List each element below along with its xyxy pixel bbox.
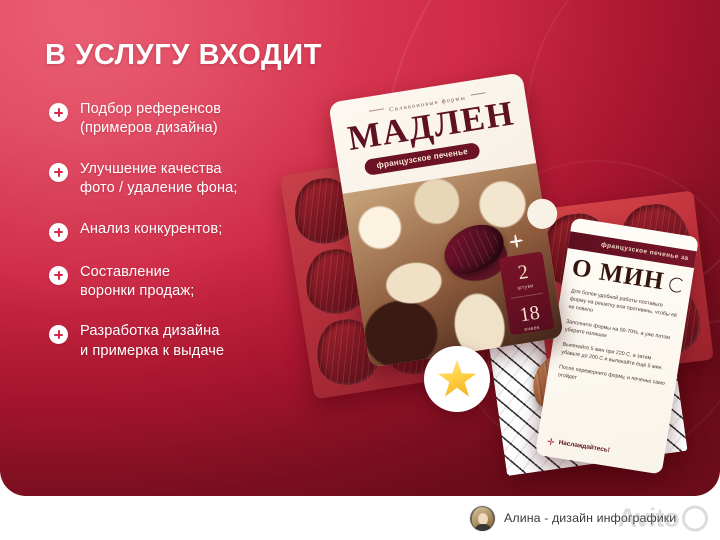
list-item-line: Подбор референсов (80, 101, 221, 117)
star-icon (437, 359, 477, 399)
tag-divider (511, 293, 543, 299)
star-badge (424, 346, 490, 412)
list-item-line: Разработка дизайна (80, 323, 219, 339)
infographic-slide: В УСЛУГУ ВХОДИТ Подбор референсов (приме… (0, 0, 720, 540)
list-item-line: Улучшение качества (80, 161, 222, 177)
author-block[interactable]: Алина - дизайн инфографики (470, 506, 676, 531)
list-item-line: (примеров дизайна) (80, 120, 218, 136)
list-item-label: Подбор референсов (примеров дизайна) (80, 100, 221, 139)
footer-bar: Алина - дизайн инфографики Avito (0, 496, 720, 540)
page-title: В УСЛУГУ ВХОДИТ (45, 40, 322, 70)
plus-circle-icon (49, 266, 68, 285)
sparkle-icon (504, 229, 529, 254)
rule-right (471, 92, 486, 95)
plus-circle-icon (49, 223, 68, 242)
product-photo-collage: французское печенье за О МИН Для более у… (300, 58, 720, 478)
list-item-label: Анализ конкурентов; (80, 220, 222, 239)
avatar (470, 506, 495, 531)
author-name: Алина - дизайн инфографики (504, 511, 676, 525)
plus-circle-icon (49, 163, 68, 182)
list-item-label: Улучшение качества фото / удаление фона; (80, 160, 238, 199)
refresh-circle-icon (668, 276, 685, 293)
plus-circle-icon (49, 103, 68, 122)
list-item-label: Разработка дизайна и примерка к выдаче (80, 322, 224, 361)
recipe-card-body: Для более удобной работы поставьте форму… (556, 288, 679, 403)
recipe-card-footer: ✛ Наслаждайтесь! (547, 437, 610, 454)
list-item-line: и примерка к выдаче (80, 343, 224, 359)
list-item-line: Анализ конкурентов; (80, 221, 222, 237)
plus-icon: ✛ (547, 441, 554, 442)
avatar-face (478, 513, 488, 525)
plus-circle-icon (49, 325, 68, 344)
list-item-label: Составление воронки продаж; (80, 263, 194, 302)
list-item-line: Составление (80, 264, 170, 280)
watermark-ring-icon (682, 505, 708, 531)
red-background-panel: В УСЛУГУ ВХОДИТ Подбор референсов (приме… (0, 0, 720, 496)
list-item-line: воронки продаж; (80, 283, 194, 299)
list-item-line: фото / удаление фона; (80, 180, 238, 196)
rule-left (369, 108, 384, 111)
recipe-footer-text: Наслаждайтесь! (558, 439, 610, 454)
product-package-card: Силиконовые формы МАДЛЕН французское печ… (328, 72, 564, 367)
